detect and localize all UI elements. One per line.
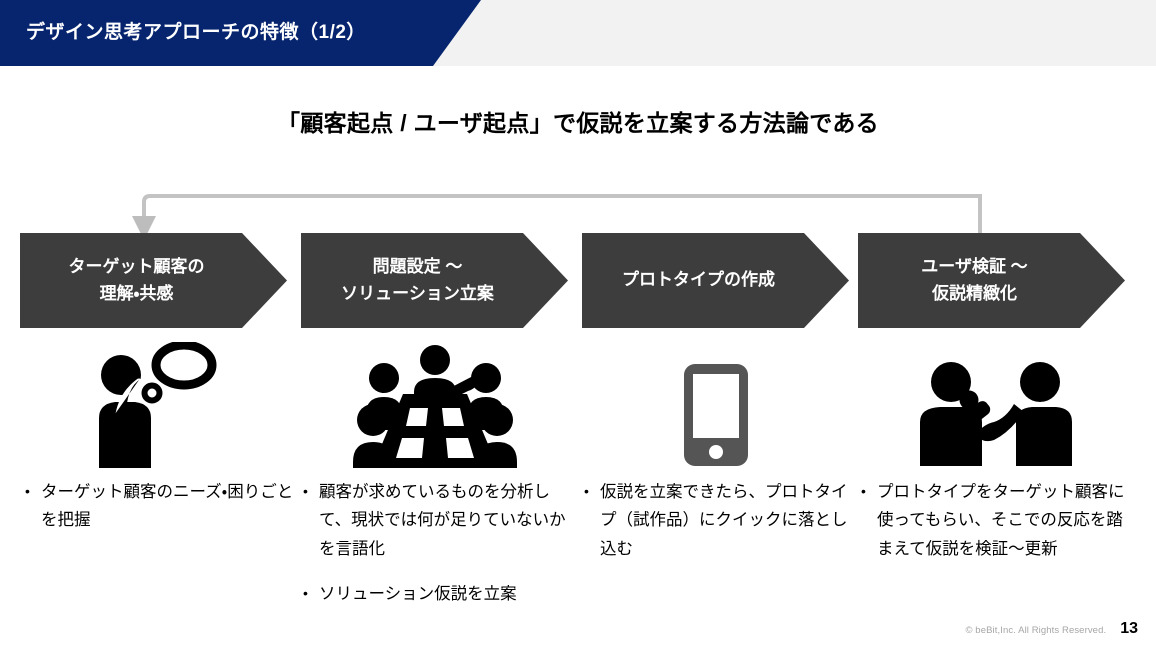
step-1-line-2: 理解・共感 <box>100 281 174 307</box>
step-1-line-1: ターゲット顧客の <box>69 254 205 280</box>
bullet-column-4: プロトタイプをターゲット顧客に使ってもらい、そこでの反応を踏まえて仮説を検証～更… <box>860 478 1132 563</box>
smartphone-icon <box>680 360 752 470</box>
step-4-line-1: ユーザ検証 ～ <box>921 254 1027 280</box>
list-item: ターゲット顧客のニーズ・困りごとを把握 <box>24 478 296 535</box>
step-4-line-2: 仮説精緻化 <box>932 281 1017 307</box>
bullet-column-2: 顧客が求めているものを分析して、現状では何が足りていないかを言語化 ソリューショ… <box>302 478 574 609</box>
process-step-4[interactable]: ユーザ検証 ～ 仮説精緻化 <box>858 233 1125 328</box>
page-number: 13 <box>1120 620 1138 638</box>
step-2-line-2: ソリューション立案 <box>341 281 494 307</box>
icon-cell-1 <box>20 340 287 470</box>
process-step-2[interactable]: 問題設定 ～ ソリューション立案 <box>301 233 568 328</box>
list-item: プロトタイプをターゲット顧客に使ってもらい、そこでの反応を踏まえて仮説を検証～更… <box>860 478 1132 563</box>
list-item: 仮説を立案できたら、プロトタイプ（試作品）にクイックに落とし込む <box>583 478 855 563</box>
slide-footer: © beBit,Inc. All Rights Reserved. 13 <box>965 620 1138 638</box>
interview-microphone-icon <box>906 360 1078 470</box>
process-step-1[interactable]: ターゲット顧客の 理解・共感 <box>20 233 287 328</box>
meeting-table-icon <box>346 344 524 470</box>
slide-title: デザイン思考アプローチの特徴（1/2） <box>26 17 366 44</box>
header-band: デザイン思考アプローチの特徴（1/2） <box>0 0 1156 66</box>
process-icons-row <box>0 340 1156 470</box>
icon-cell-3 <box>582 340 849 470</box>
bullet-column-3: 仮説を立案できたら、プロトタイプ（試作品）にクイックに落とし込む <box>583 478 855 563</box>
process-step-3[interactable]: プロトタイプの作成 <box>582 233 849 328</box>
slide-headline: 「顧客起点 / ユーザ起点」で仮説を立案する方法論である <box>0 104 1156 138</box>
copyright-text: © beBit,Inc. All Rights Reserved. <box>965 625 1106 636</box>
icon-cell-2 <box>301 340 568 470</box>
bullet-columns: ターゲット顧客のニーズ・困りごとを把握 顧客が求めているものを分析して、現状では… <box>0 478 1156 618</box>
icon-cell-4 <box>858 340 1125 470</box>
step-2-line-1: 問題設定 ～ <box>373 254 463 280</box>
list-item: 顧客が求めているものを分析して、現状では何が足りていないかを言語化 <box>302 478 574 563</box>
step-3-line-1: プロトタイプの作成 <box>622 267 775 293</box>
thinking-person-icon <box>79 342 229 470</box>
process-step-bar: ターゲット顧客の 理解・共感 問題設定 ～ ソリューション立案 プロトタイプの作… <box>0 233 1156 328</box>
bullet-column-1: ターゲット顧客のニーズ・困りごとを把握 <box>24 478 296 535</box>
list-item: ソリューション仮説を立案 <box>302 580 574 608</box>
